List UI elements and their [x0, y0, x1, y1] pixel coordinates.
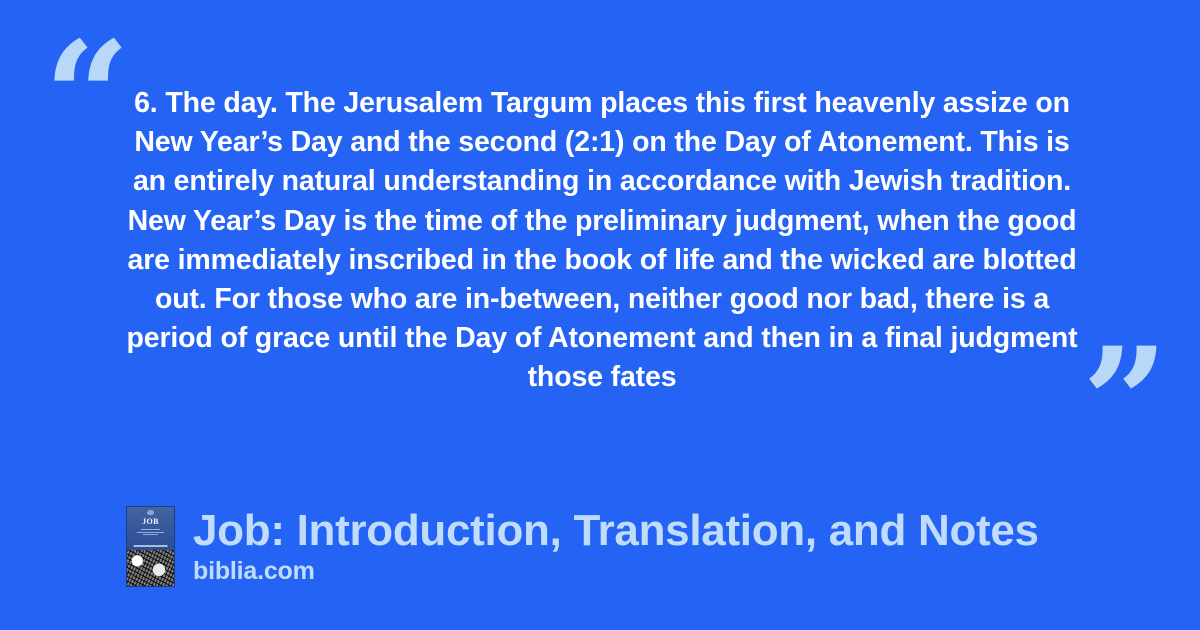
book-cover-author-line [133, 545, 168, 547]
close-quote-icon: ” [1082, 328, 1168, 478]
book-cover-subtitle-lines [134, 529, 167, 535]
quote-card: { "card": { "background_color": "#2563f5… [0, 0, 1200, 630]
footer: JOB Job: Introduction, Translation, and … [126, 506, 1039, 587]
footer-text-group: Job: Introduction, Translation, and Note… [193, 506, 1039, 586]
quote-text: 6. The day. The Jerusalem Targum places … [120, 84, 1084, 398]
book-cover-title: JOB [142, 518, 159, 526]
book-cover-top: JOB [127, 507, 174, 550]
book-title: Job: Introduction, Translation, and Note… [193, 507, 1039, 555]
book-cover-engraving [127, 550, 174, 586]
book-cover-thumbnail-icon: JOB [126, 506, 175, 587]
open-quote-icon: “ [44, 22, 130, 172]
quote-area: “ 6. The day. The Jerusalem Targum place… [0, 0, 1200, 440]
site-name: biblia.com [193, 556, 1039, 586]
publisher-crest-icon [147, 510, 154, 515]
